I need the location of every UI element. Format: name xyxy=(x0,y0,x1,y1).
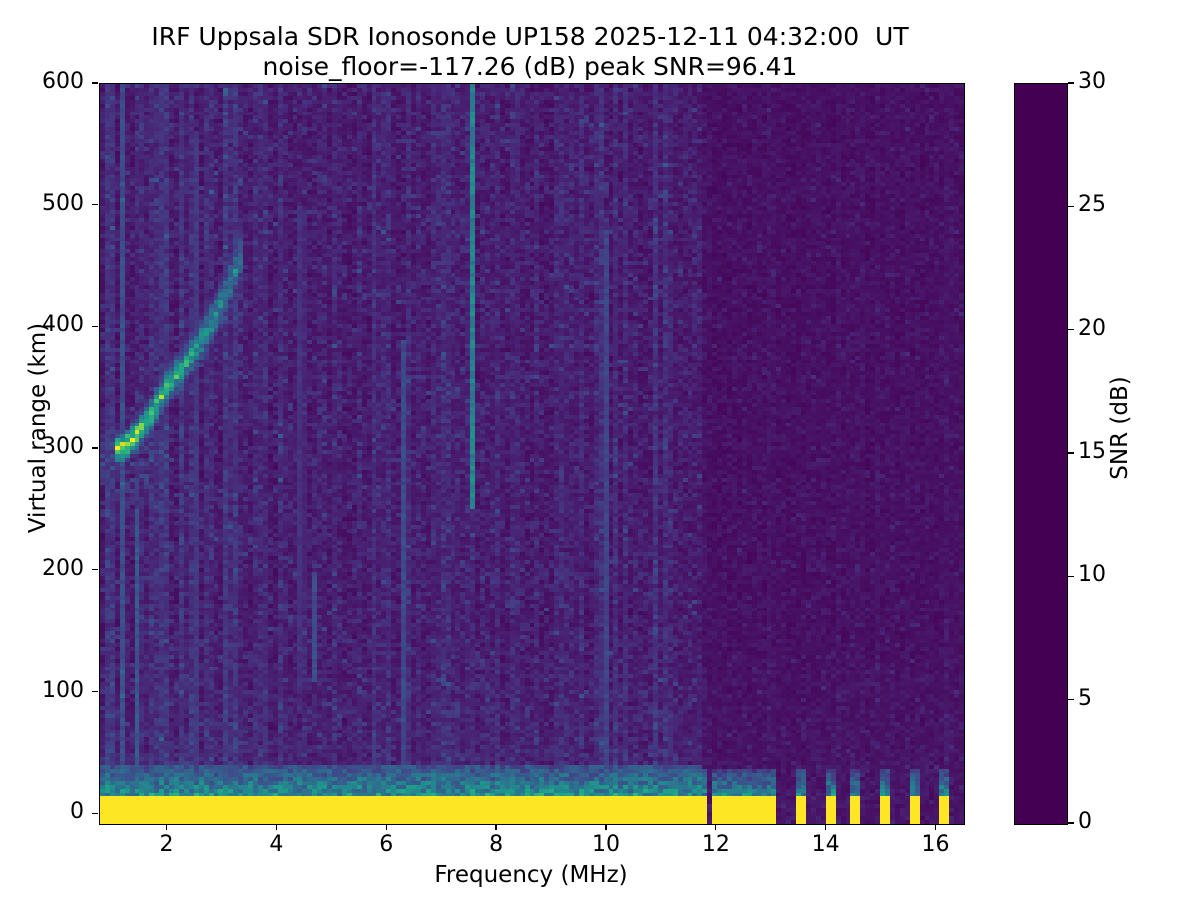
colorbar-tick-mark xyxy=(1068,822,1074,823)
x-tick-mark xyxy=(605,824,606,830)
x-axis-label: Frequency (MHz) xyxy=(99,862,963,888)
x-tick-label: 16 xyxy=(896,832,976,857)
colorbar-tick-mark xyxy=(1068,82,1074,83)
figure-title-line-2: noise_floor=-117.26 (dB) peak SNR=96.41 xyxy=(0,52,1060,82)
x-tick-label: 6 xyxy=(346,832,426,857)
colorbar-tick-label: 25 xyxy=(1078,192,1148,217)
y-tick-mark xyxy=(92,82,98,83)
colorbar-tick-mark xyxy=(1068,329,1074,330)
x-tick-label: 12 xyxy=(676,832,756,857)
x-tick-mark xyxy=(935,824,936,830)
colorbar-tick-mark xyxy=(1068,452,1074,453)
y-tick-label: 600 xyxy=(4,69,84,94)
y-tick-mark xyxy=(92,204,98,205)
colorbar-tick-label: 5 xyxy=(1078,686,1148,711)
figure-title-line-1: IRF Uppsala SDR Ionosonde UP158 2025-12-… xyxy=(0,22,1060,52)
ionogram-figure: IRF Uppsala SDR Ionosonde UP158 2025-12-… xyxy=(0,0,1200,900)
x-tick-mark xyxy=(825,824,826,830)
colorbar-label: SNR (dB) xyxy=(1107,228,1133,628)
y-tick-mark xyxy=(92,447,98,448)
y-tick-label: 0 xyxy=(4,799,84,824)
x-tick-label: 14 xyxy=(786,832,866,857)
ionogram-plot-area xyxy=(99,83,965,825)
x-tick-label: 4 xyxy=(236,832,316,857)
ionogram-heatmap xyxy=(100,84,964,824)
x-tick-label: 2 xyxy=(127,832,207,857)
colorbar-tick-mark xyxy=(1068,699,1074,700)
colorbar-tick-label: 0 xyxy=(1078,809,1148,834)
colorbar-tick-mark xyxy=(1068,206,1074,207)
x-tick-mark xyxy=(386,824,387,830)
x-tick-mark xyxy=(166,824,167,830)
y-tick-mark xyxy=(92,691,98,692)
colorbar-gradient xyxy=(1015,84,1067,824)
x-tick-mark xyxy=(715,824,716,830)
y-tick-label: 100 xyxy=(4,678,84,703)
y-tick-label: 500 xyxy=(4,191,84,216)
y-tick-mark xyxy=(92,569,98,570)
x-tick-label: 10 xyxy=(566,832,646,857)
colorbar-tick-mark xyxy=(1068,576,1074,577)
x-tick-mark xyxy=(495,824,496,830)
y-tick-mark xyxy=(92,813,98,814)
y-tick-mark xyxy=(92,326,98,327)
colorbar-tick-label: 30 xyxy=(1078,69,1148,94)
y-axis-label: Virtual range (km) xyxy=(25,228,51,628)
x-tick-label: 8 xyxy=(456,832,536,857)
x-tick-mark xyxy=(276,824,277,830)
ionogram-canvas xyxy=(100,84,964,824)
colorbar xyxy=(1014,83,1068,825)
